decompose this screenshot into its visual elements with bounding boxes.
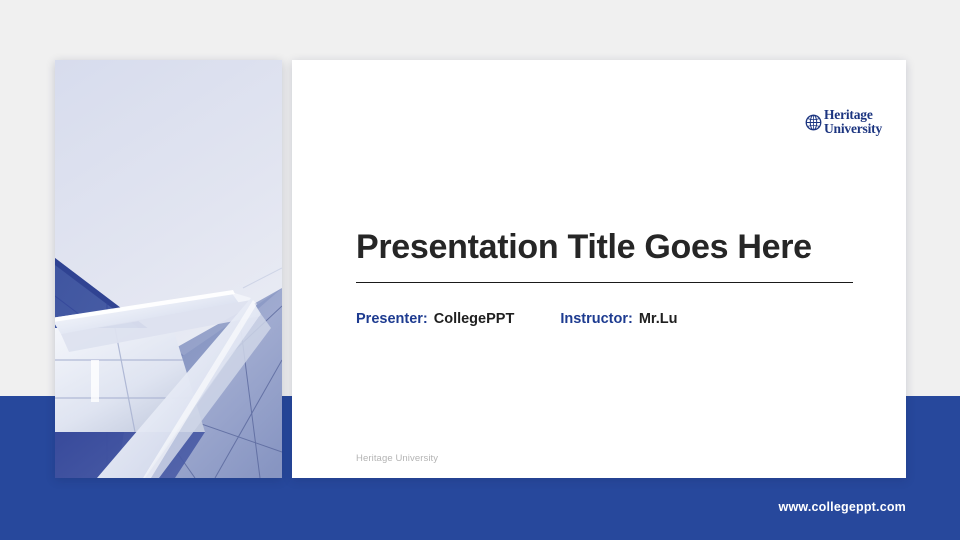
slide-content-card: Heritage University Presentation Title G… [292, 60, 906, 478]
slide-stage: www.collegeppt.com [0, 0, 960, 540]
university-globe-emblem-icon [805, 114, 822, 131]
instructor-label: Instructor: [560, 311, 633, 327]
instructor-credit: Instructor: Mr.Lu [560, 311, 677, 327]
university-logo: Heritage University [805, 108, 882, 136]
university-wordmark: Heritage University [824, 108, 882, 136]
title-block: Presentation Title Goes Here [356, 228, 854, 283]
presenter-label: Presenter: [356, 311, 428, 327]
card-footer-text: Heritage University [356, 453, 438, 464]
logo-line-2: University [824, 122, 882, 136]
presenter-credit: Presenter: CollegePPT [356, 311, 514, 327]
website-watermark: www.collegeppt.com [779, 500, 906, 514]
architecture-photo [55, 60, 282, 478]
page-title: Presentation Title Goes Here [356, 228, 854, 267]
credits-row: Presenter: CollegePPT Instructor: Mr.Lu [356, 311, 677, 327]
instructor-value: Mr.Lu [639, 311, 678, 327]
presenter-value: CollegePPT [434, 311, 515, 327]
title-divider [356, 282, 853, 283]
logo-line-1: Heritage [824, 108, 882, 122]
